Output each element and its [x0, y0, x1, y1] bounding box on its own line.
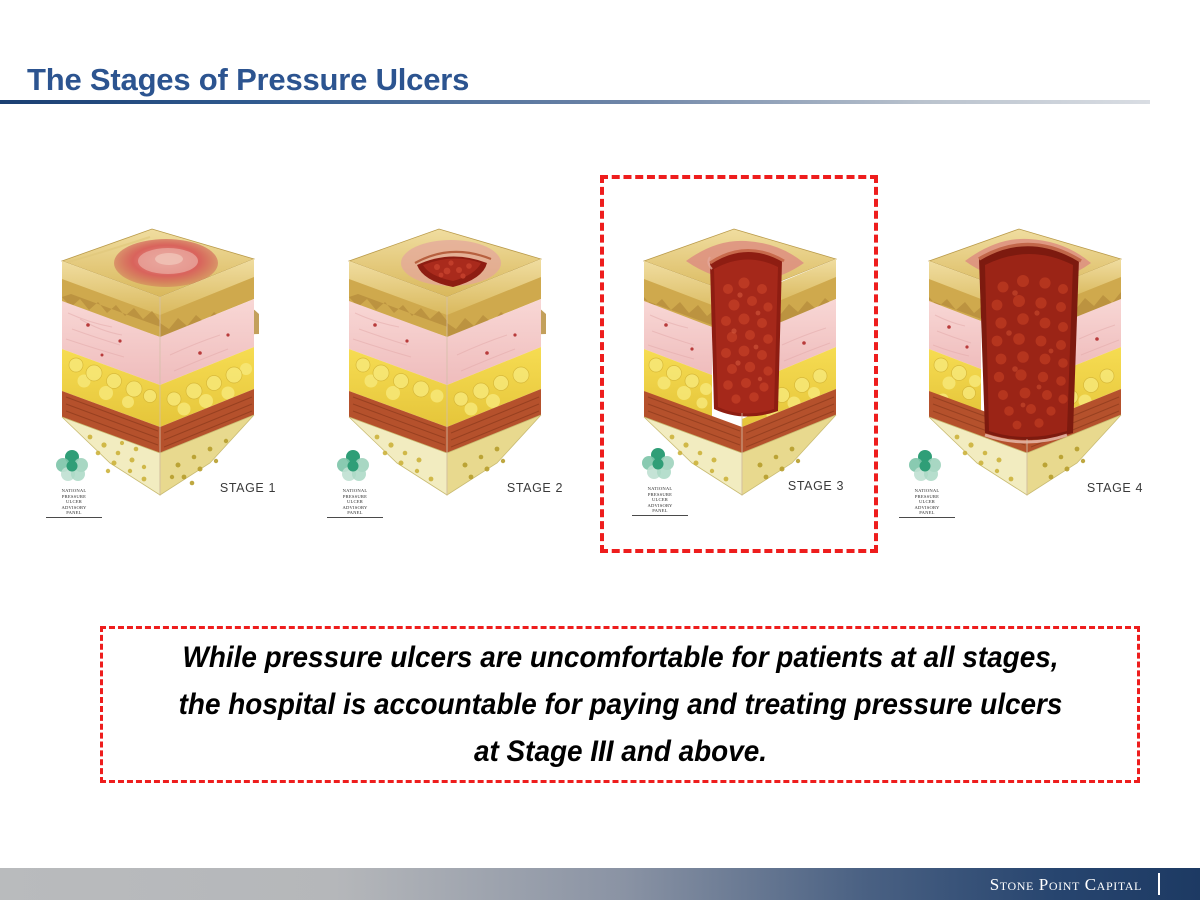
npuap-logo: NATIONAL PRESSURE ULCER ADVISORY PANEL — [899, 447, 955, 521]
stage-panel-2: NATIONAL PRESSURE ULCER ADVISORY PANEL S… — [305, 175, 583, 553]
callout-box: While pressure ulcers are uncomfortable … — [100, 626, 1140, 783]
footer-divider-bar — [1158, 873, 1160, 895]
npuap-logo: NATIONAL PRESSURE ULCER ADVISORY PANEL — [632, 445, 688, 519]
npuap-logo-text: NATIONAL PRESSURE ULCER ADVISORY PANEL — [632, 486, 688, 516]
page-title: The Stages of Pressure Ulcers — [27, 62, 469, 98]
stage-diagram-row: NATIONAL PRESSURE ULCER ADVISORY PANEL S… — [0, 175, 1200, 560]
npuap-logo-text: NATIONAL PRESSURE ULCER ADVISORY PANEL — [899, 488, 955, 518]
stage-panel-4: NATIONAL PRESSURE ULCER ADVISORY PANEL S… — [885, 175, 1163, 553]
npuap-logo: NATIONAL PRESSURE ULCER ADVISORY PANEL — [327, 447, 383, 521]
npuap-logo-text: NATIONAL PRESSURE ULCER ADVISORY PANEL — [327, 488, 383, 518]
npuap-logo: NATIONAL PRESSURE ULCER ADVISORY PANEL — [46, 447, 102, 521]
footer-brand-name: Stone Point Capital — [990, 875, 1142, 895]
npuap-logo-text: NATIONAL PRESSURE ULCER ADVISORY PANEL — [46, 488, 102, 518]
callout-text: While pressure ulcers are uncomfortable … — [171, 634, 1068, 775]
title-divider-rule — [0, 100, 1150, 104]
stage-caption-3: STAGE 3 — [788, 479, 844, 493]
stage-panel-3-highlighted: NATIONAL PRESSURE ULCER ADVISORY PANEL S… — [600, 175, 878, 553]
stage-caption-2: STAGE 2 — [507, 481, 563, 495]
stage-caption-4: STAGE 4 — [1087, 481, 1143, 495]
stage-panel-1: NATIONAL PRESSURE ULCER ADVISORY PANEL S… — [18, 175, 296, 553]
stage-caption-1: STAGE 1 — [220, 481, 276, 495]
footer-band: Stone Point Capital — [0, 868, 1200, 900]
